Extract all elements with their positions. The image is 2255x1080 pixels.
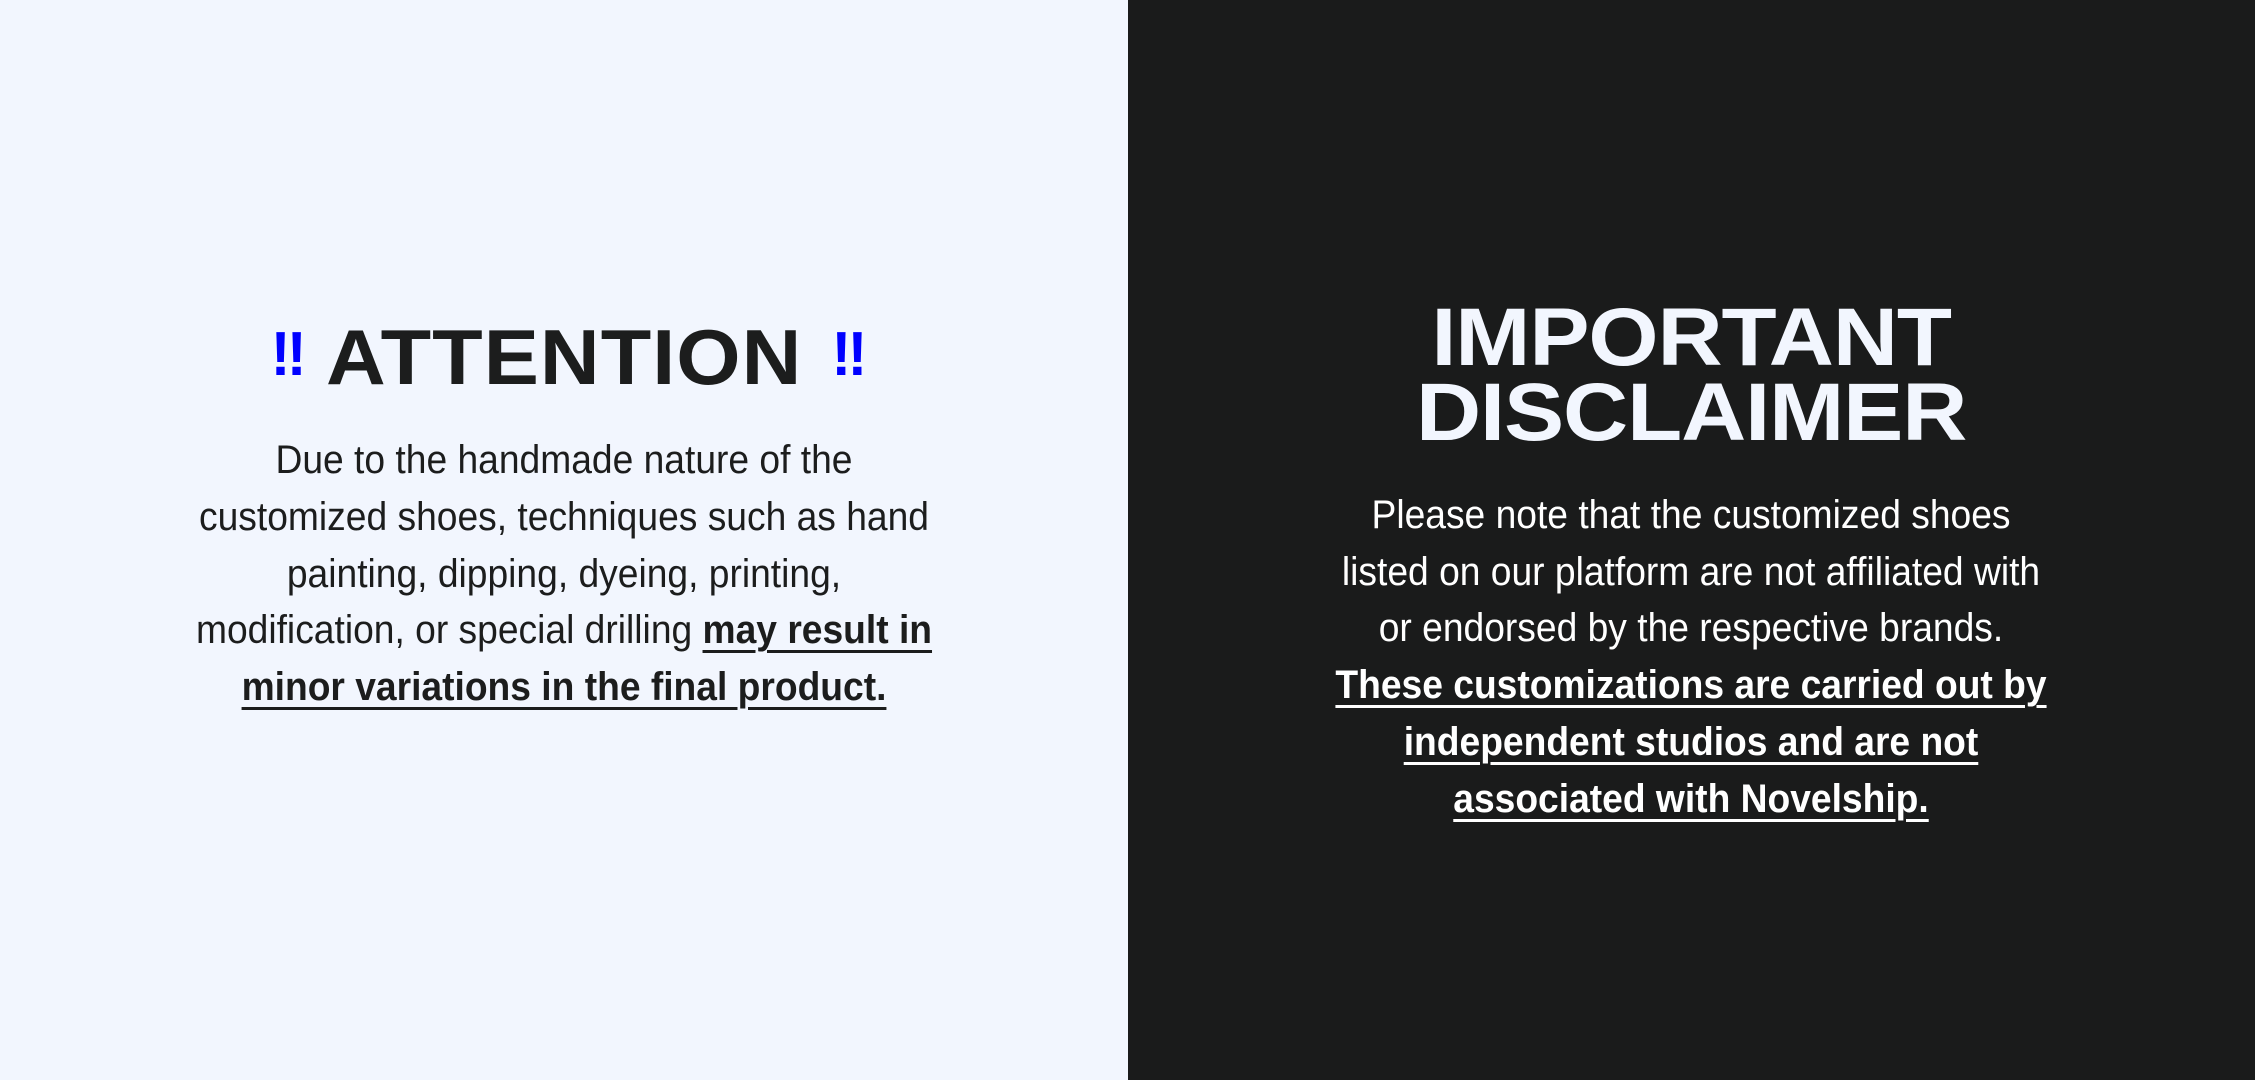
double-exclamation-icon-left: ‼ [270,324,296,386]
attention-heading-text: ATTENTION [325,318,801,396]
disclaimer-panel: IMPORTANT DISCLAIMER Please note that th… [1128,0,2255,1080]
disclaimer-body: Please note that the customized shoes li… [1324,487,2059,828]
attention-panel: ‼ ATTENTION ‼ Due to the handmade nature… [0,0,1128,1080]
disclaimer-body-normal: Please note that the customized shoes li… [1342,493,2040,651]
attention-body: Due to the handmade nature of the custom… [192,432,936,716]
double-exclamation-icon-right: ‼ [831,324,857,386]
attention-content: ‼ ATTENTION ‼ Due to the handmade nature… [0,0,1128,1080]
disclaimer-banner: ‼ ATTENTION ‼ Due to the handmade nature… [0,0,2255,1080]
disclaimer-body-emphasis: These customizations are carried out by … [1336,663,2047,821]
disclaimer-heading: IMPORTANT DISCLAIMER [1416,300,1966,451]
disclaimer-heading-line1: IMPORTANT [1416,300,1966,375]
attention-heading: ‼ ATTENTION ‼ [269,318,859,396]
disclaimer-heading-line2: DISCLAIMER [1416,375,1966,450]
disclaimer-content: IMPORTANT DISCLAIMER Please note that th… [1128,0,2255,1080]
